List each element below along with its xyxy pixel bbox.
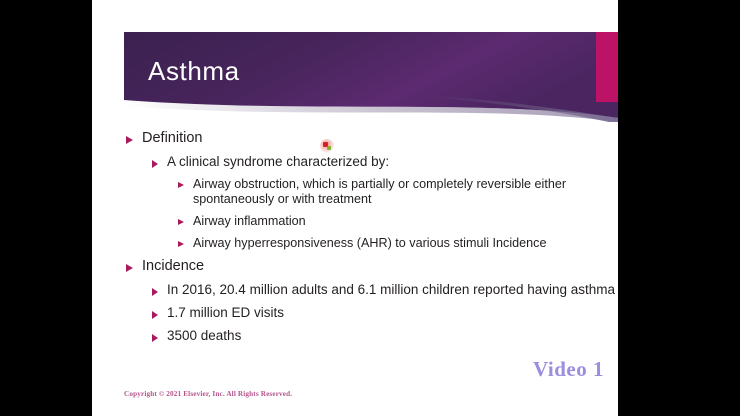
laser-pointer-icon [320,139,336,155]
letterbox-bar-right [618,0,740,416]
list-item: Airway hyperresponsiveness (AHR) to vari… [178,236,618,251]
list-item-label: 1.7 million ED visits [167,305,284,321]
list-item: 1.7 million ED visits [152,305,618,321]
list-item-label: Airway inflammation [193,214,306,229]
list-item-label: Airway obstruction, which is partially o… [193,177,605,207]
letterbox-bar-left [0,0,92,416]
bullet-triangle-icon [178,182,184,188]
list-item-label: 3500 deaths [167,328,241,344]
list-item: Definition [126,130,618,147]
bullet-triangle-icon [152,288,158,296]
presentation-slide: Asthma Definition A clinical syndrome ch… [92,0,618,416]
list-item-label: Airway hyperresponsiveness (AHR) to vari… [193,236,546,251]
list-item: Incidence [126,258,618,275]
list-item-label: A clinical syndrome characterized by: [167,154,389,170]
pointer-dot-green [327,146,331,150]
list-item-label: Incidence [142,258,204,275]
bullet-triangle-icon [152,311,158,319]
copyright-notice: Copyright © 2021 Elsevier, Inc. All Righ… [124,390,292,398]
video-player-viewport: Asthma Definition A clinical syndrome ch… [0,0,740,416]
list-item: Airway inflammation [178,214,618,229]
bullet-triangle-icon [178,219,184,225]
bullet-triangle-icon [152,334,158,342]
page-title: Asthma [148,56,240,87]
list-item-label: Definition [142,130,202,147]
list-item: 3500 deaths [152,328,618,344]
bullet-triangle-icon [178,241,184,247]
list-item-label: In 2016, 20.4 million adults and 6.1 mil… [167,282,615,298]
slide-body: Definition A clinical syndrome character… [92,130,618,351]
header-accent-bar [596,32,618,102]
list-item: Airway obstruction, which is partially o… [178,177,618,207]
bullet-triangle-icon [152,160,158,168]
bullet-triangle-icon [126,264,133,272]
bullet-triangle-icon [126,136,133,144]
list-item: In 2016, 20.4 million adults and 6.1 mil… [152,282,618,298]
list-item: A clinical syndrome characterized by: [152,154,618,170]
video-number-label: Video 1 [533,357,604,382]
